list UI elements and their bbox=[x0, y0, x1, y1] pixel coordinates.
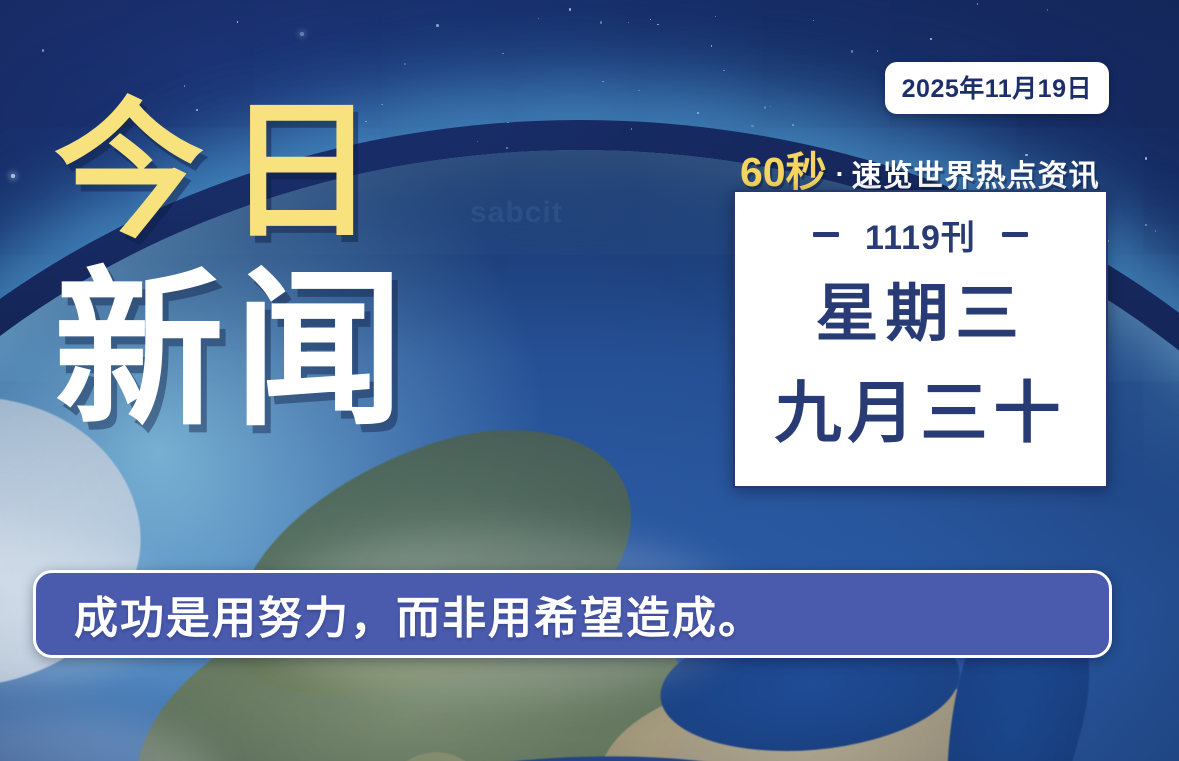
star bbox=[1155, 230, 1157, 232]
star bbox=[237, 21, 239, 23]
star bbox=[638, 90, 640, 92]
star bbox=[1047, 9, 1049, 11]
star bbox=[657, 24, 659, 26]
tagline-separator-dot: · bbox=[836, 159, 845, 190]
issue-row: 1119刊 bbox=[813, 210, 1028, 259]
star bbox=[851, 50, 854, 53]
star bbox=[751, 125, 754, 128]
star bbox=[977, 3, 979, 5]
news-poster: sabcit 今日 新闻 2025年11月19日 60秒 · 速览世界热点资讯 … bbox=[0, 0, 1179, 761]
lunar-date-label: 九月三十 bbox=[775, 380, 1067, 447]
star bbox=[877, 50, 879, 52]
page-title-line1: 今日 bbox=[54, 96, 524, 246]
star bbox=[792, 124, 794, 126]
star bbox=[569, 8, 572, 11]
star bbox=[770, 106, 772, 108]
star bbox=[697, 112, 699, 114]
star bbox=[1145, 157, 1148, 160]
quote-bar: 成功是用努力，而非用希望造成。 bbox=[33, 570, 1112, 658]
star bbox=[602, 81, 604, 83]
tagline: 60秒 · 速览世界热点资讯 bbox=[740, 138, 1100, 198]
star bbox=[436, 24, 439, 27]
star bbox=[723, 70, 725, 72]
star bbox=[930, 38, 933, 41]
star bbox=[404, 63, 406, 65]
star bbox=[813, 20, 815, 22]
dash-left-icon bbox=[813, 232, 839, 237]
star bbox=[764, 106, 767, 109]
date-badge: 2025年11月19日 bbox=[885, 62, 1109, 114]
star bbox=[502, 53, 504, 55]
issue-number: 1119刊 bbox=[865, 210, 976, 259]
date-info-card: 1119刊 星期三 九月三十 bbox=[733, 190, 1108, 488]
star bbox=[1145, 224, 1148, 227]
poster-title: 今日 新闻 bbox=[54, 96, 524, 436]
page-title-line2: 新闻 bbox=[54, 266, 524, 436]
star bbox=[715, 16, 717, 18]
star bbox=[650, 19, 652, 21]
star bbox=[11, 174, 15, 178]
star bbox=[631, 128, 633, 130]
weekday-label: 星期三 bbox=[816, 283, 1026, 346]
tagline-highlight: 60秒 bbox=[740, 138, 827, 198]
quote-text: 成功是用努力，而非用希望造成。 bbox=[74, 582, 764, 646]
dash-right-icon bbox=[1002, 232, 1028, 237]
star bbox=[538, 18, 540, 20]
star bbox=[711, 45, 713, 47]
star bbox=[42, 49, 45, 52]
star bbox=[600, 21, 603, 24]
star bbox=[300, 32, 304, 36]
tagline-text: 速览世界热点资讯 bbox=[852, 151, 1100, 195]
star bbox=[628, 22, 630, 24]
